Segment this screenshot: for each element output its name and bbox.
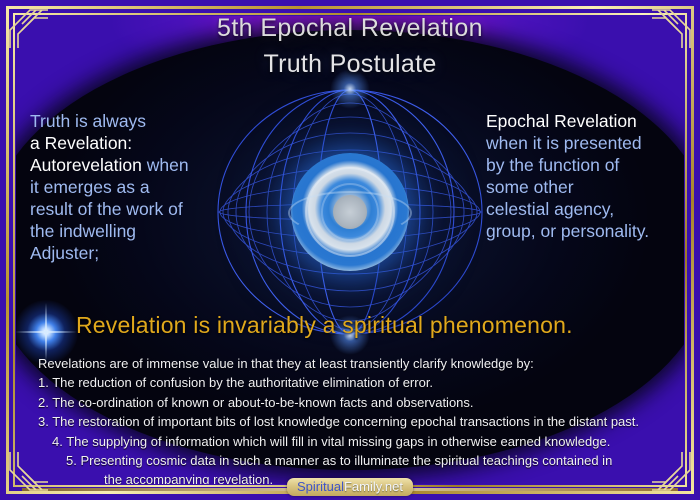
- left-line-5: result of the work of: [30, 199, 183, 219]
- left-line-4: it emerges as a: [30, 177, 150, 197]
- left-line-3-rest: when: [142, 155, 189, 175]
- site-brand-footer[interactable]: SpiritualFamily.net: [287, 478, 413, 496]
- left-statement: Truth is always a Revelation: Autorevela…: [30, 110, 230, 264]
- brand-first-part: Spiritual: [297, 479, 344, 494]
- headline-row: Revelation is invariably a spiritual phe…: [16, 312, 684, 352]
- list-lead: Revelations are of immense value in that…: [30, 354, 678, 373]
- left-line-1: Truth is always: [30, 111, 146, 131]
- glowing-orb: [291, 153, 409, 271]
- poster-stage: 5th Epochal Revelation Truth Postulate T…: [16, 16, 684, 484]
- poster: 5th Epochal Revelation Truth Postulate T…: [0, 0, 700, 500]
- list-item: 3. The restoration of important bits of …: [30, 412, 678, 431]
- list-item: 1. The reduction of confusion by the aut…: [30, 373, 678, 392]
- right-line-2: when it is presented: [486, 133, 642, 153]
- list-item: 4. The supplying of information which wi…: [30, 432, 678, 451]
- orb-band: [288, 191, 412, 235]
- left-line-6: the indwelling: [30, 221, 136, 241]
- wireframe-globe-graphic: [210, 87, 490, 337]
- right-line-5: celestial agency,: [486, 199, 614, 219]
- right-line-1-emphasis: Epochal Revelation: [486, 111, 637, 131]
- right-line-3: by the function of: [486, 155, 619, 175]
- list-item: 5. Presenting cosmic data in such a mann…: [30, 451, 678, 470]
- list-item: 2. The co-ordination of known or about-t…: [30, 393, 678, 412]
- page-title: 5th Epochal Revelation: [16, 16, 684, 43]
- revelation-list: Revelations are of immense value in that…: [30, 354, 678, 484]
- brand-second-part: Family.net: [344, 479, 403, 494]
- right-line-4: some other: [486, 177, 574, 197]
- left-line-2: a Revelation:: [30, 133, 132, 153]
- left-line-7: Adjuster;: [30, 243, 99, 263]
- left-line-3-emphasis: Autorevelation: [30, 155, 142, 175]
- right-statement: Epochal Revelation when it is presented …: [486, 110, 684, 242]
- headline-text: Revelation is invariably a spiritual phe…: [76, 312, 674, 339]
- right-line-6: group, or personality.: [486, 221, 649, 241]
- page-subtitle: Truth Postulate: [16, 50, 684, 79]
